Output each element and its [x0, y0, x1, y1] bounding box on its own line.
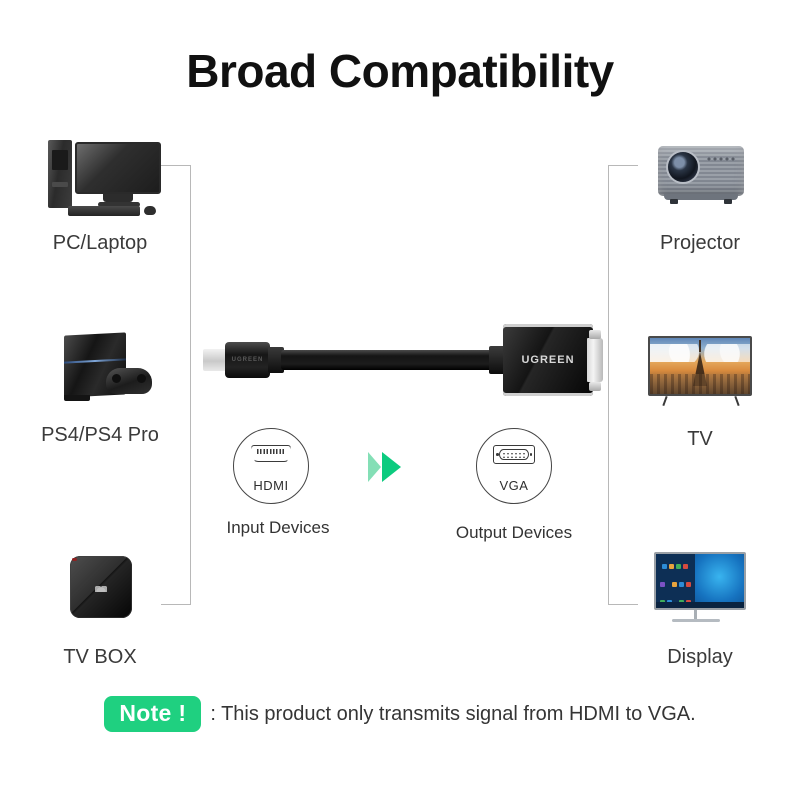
monitor-base-icon [672, 619, 720, 622]
game-console-icon [20, 326, 180, 412]
vga-screw-hole-left [496, 453, 499, 456]
hdmi-connector-housing: UGREEN [225, 342, 270, 378]
vga-connector-port [587, 338, 603, 382]
note-badge: Note ! [104, 696, 201, 732]
projector-icon [620, 134, 780, 220]
device-ps4: PS4/PS4 Pro [0, 326, 200, 447]
vga-adapter-body: UGREEN [503, 324, 593, 396]
start-menu-tiles [656, 554, 695, 608]
device-pc-laptop: PC/Laptop [0, 134, 200, 255]
pc-mouse-icon [144, 206, 156, 215]
television-icon [620, 330, 780, 416]
tv-screen-image [650, 338, 750, 394]
note-text: : This product only transmits signal fro… [210, 703, 695, 726]
brand-logo-icon [95, 582, 107, 592]
ps4-stand-icon [64, 395, 90, 401]
tv-box-body-icon [70, 556, 132, 618]
double-right-arrow-icon [368, 452, 404, 482]
tv-box-icon [20, 548, 180, 634]
output-devices-label: Output Devices [404, 523, 624, 543]
pc-monitor-icon [75, 142, 161, 194]
device-label: PC/Laptop [0, 232, 200, 255]
arrow-triangle-solid [382, 452, 401, 482]
vga-screw-top [589, 330, 601, 339]
pc-keyboard-icon [68, 206, 140, 216]
vga-pins [502, 452, 526, 459]
brand-label-vga: UGREEN [521, 354, 574, 366]
vga-screw-bottom [589, 382, 601, 391]
desktop-computer-icon [20, 134, 180, 220]
tv-foot-right-icon [734, 396, 739, 406]
infographic-page: Broad Compatibility PC/Laptop PS4/PS4 Pr… [0, 0, 800, 800]
device-display: Display [600, 548, 800, 669]
projector-foot-right-icon [724, 199, 732, 204]
hdmi-port-icon [251, 445, 291, 462]
pc-tower-icon [48, 140, 72, 208]
taskbar [656, 602, 744, 608]
vga-port-icon [493, 445, 535, 464]
device-label: PS4/PS4 Pro [0, 424, 200, 447]
flat-cable [281, 350, 496, 370]
ps4-controller-icon [106, 368, 152, 394]
projector-vents-icon [706, 156, 736, 162]
device-tv-box: TV BOX [0, 548, 200, 669]
arrow-triangle-light [368, 452, 381, 482]
windows-wallpaper-rays [691, 554, 744, 608]
tv-foot-left-icon [662, 396, 667, 406]
badge-label: HDMI [233, 478, 309, 493]
monitor-icon [620, 548, 780, 634]
tv-frame-icon [648, 336, 752, 396]
vga-screw-hole-right [530, 453, 533, 456]
vga-badge: VGA [476, 428, 552, 504]
monitor-screen-image [656, 554, 744, 608]
brand-label-hdmi: UGREEN [232, 357, 264, 363]
tv-cityscape [650, 374, 750, 394]
badge-label: VGA [476, 478, 552, 493]
device-projector: Projector [600, 134, 800, 255]
hdmi-badge: HDMI [233, 428, 309, 504]
input-devices-label: Input Devices [168, 518, 388, 538]
led-indicator-icon [72, 558, 77, 561]
product-hdmi-to-vga-adapter: UGREEN UGREEN [195, 320, 605, 400]
device-label: TV [600, 428, 800, 451]
device-label: TV BOX [0, 646, 200, 669]
note-section: Note ! : This product only transmits sig… [0, 696, 800, 732]
page-title: Broad Compatibility [0, 44, 800, 98]
monitor-frame-icon [654, 552, 746, 610]
projector-lens-icon [668, 152, 698, 182]
projector-foot-left-icon [670, 199, 678, 204]
device-label: Display [600, 646, 800, 669]
hdmi-connector-tip [203, 349, 227, 371]
device-tv: TV [600, 330, 800, 451]
device-label: Projector [600, 232, 800, 255]
